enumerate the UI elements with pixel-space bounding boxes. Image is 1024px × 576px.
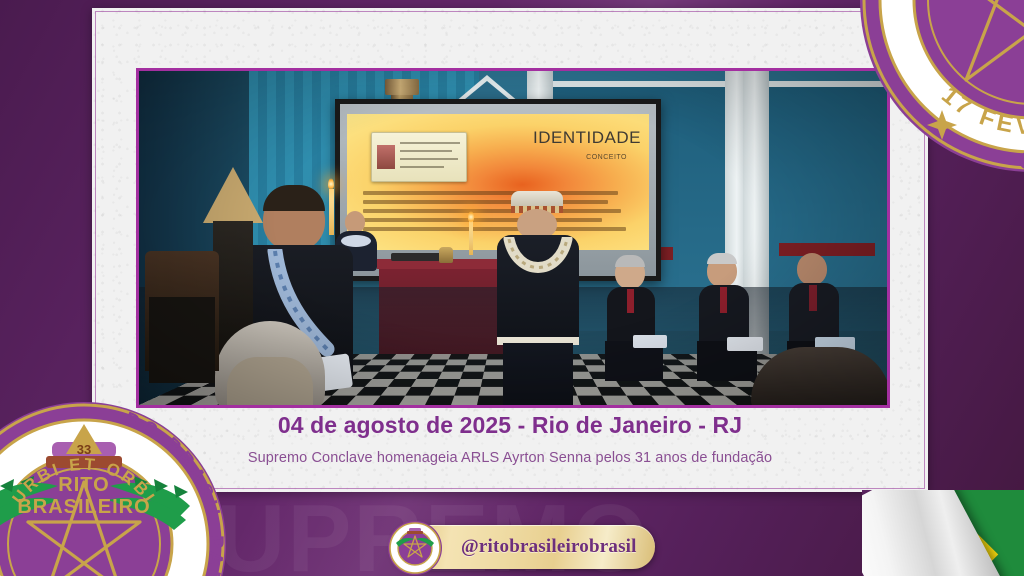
rito-brasileiro-mini-seal: [387, 520, 443, 576]
head: [345, 211, 365, 233]
photo-frame: IDENTIDADE CONCEITO: [136, 68, 890, 408]
slide-title: IDENTIDADE: [533, 128, 641, 148]
social-handle-text: @ritobrasileirobrasil: [461, 536, 637, 558]
wall-plaque-2: [779, 243, 875, 256]
id-photo: [377, 145, 395, 169]
hair: [615, 255, 645, 267]
slide-subtitle: CONCEITO: [586, 154, 627, 161]
id-line: [400, 158, 458, 160]
necktie: [809, 285, 817, 311]
seal-rito-brasileiro: 33 RITO BRASILEIRO DO BRASIL PARA O RITO…: [0, 394, 234, 576]
collar: [341, 235, 371, 247]
necktie: [720, 287, 727, 313]
presentation-slide: IDENTIDADE CONCEITO: [347, 114, 649, 250]
id-line: [400, 166, 444, 168]
foreground-face: [227, 357, 313, 405]
head: [797, 253, 827, 285]
id-line: [400, 142, 460, 144]
held-booklet: [727, 337, 763, 351]
id-line: [400, 150, 452, 152]
poster-root: CONCLAVE SUPREMO HOMO: [0, 0, 1024, 576]
brazil-flag-page-curl: [862, 490, 1024, 576]
candle-1: [469, 221, 473, 255]
candle-flame-2: [328, 178, 334, 190]
masonic-lodge-ceremony-photo: IDENTIDADE CONCEITO: [139, 71, 887, 405]
chair-left-2: [149, 297, 215, 383]
slide-body-text: [363, 191, 629, 236]
candle-flame-1: [468, 211, 474, 223]
identity-card-graphic: [371, 132, 467, 182]
hair: [707, 253, 737, 264]
trousers: [503, 343, 573, 405]
masonic-collar: [503, 237, 573, 291]
seal-center-line-1: RITO: [58, 474, 109, 496]
seal-supremo-conclave: SUPREMO HOMO HOMINI 17 FEV: [846, 0, 1024, 186]
held-booklet: [633, 335, 667, 348]
necktie: [627, 289, 634, 313]
seal-center-line-2: BRASILEIRO: [17, 496, 150, 518]
altar-bell: [439, 247, 453, 263]
lodge-column-capital: [385, 79, 419, 95]
chair-finial: [203, 167, 263, 223]
candle-2: [329, 189, 334, 235]
crown-degree-number: 33: [77, 442, 91, 457]
social-handle-pill[interactable]: @ritobrasileirobrasil: [393, 525, 655, 569]
